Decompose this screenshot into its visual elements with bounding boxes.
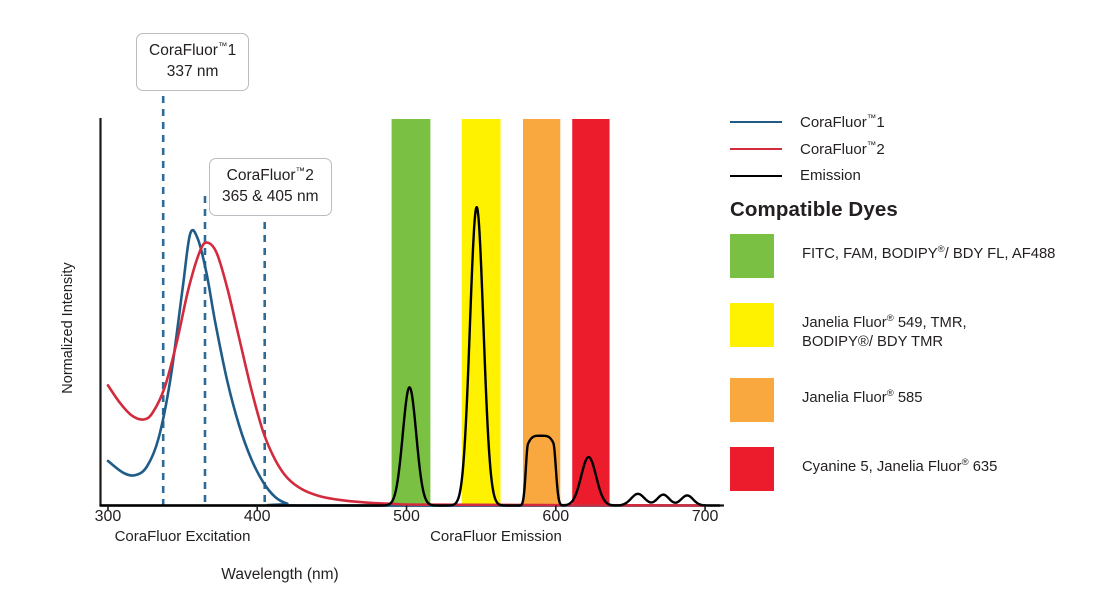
registered-icon: ®: [938, 244, 945, 255]
green-band: [392, 119, 431, 506]
dye-label-text: Janelia Fluor: [802, 390, 887, 406]
x-axis-label: Wavelength (nm): [0, 566, 560, 584]
dye-row: Janelia Fluor® 549, TMR,BODIPY®/ BDY TMR: [730, 303, 1100, 353]
x-tick-label-500: 500: [372, 508, 442, 526]
dye-row: Cyanine 5, Janelia Fluor® 635: [730, 447, 1100, 491]
trademark-icon: ™: [296, 166, 306, 177]
legend-item-corafluor2: CoraFluor™2: [730, 135, 1090, 162]
dye-label-text-cont: 635: [969, 459, 998, 475]
dye-label: FITC, FAM, BODIPY®/ BDY FL, AF488: [802, 234, 1055, 264]
dye-row: FITC, FAM, BODIPY®/ BDY FL, AF488: [730, 234, 1100, 278]
dye-row: Janelia Fluor® 585: [730, 378, 1100, 422]
red-band: [572, 119, 609, 506]
registered-icon: ®: [887, 388, 894, 399]
dye-label-line2: BODIPY®/ BDY TMR: [802, 333, 967, 353]
registered-icon: ®: [962, 457, 969, 468]
chart-canvas: CoraFluor™1 337 nm CoraFluor™2 365 & 405…: [0, 0, 1110, 612]
y-axis-label: Normalized Intensity: [60, 238, 76, 418]
legend-label: CoraFluor™1: [800, 113, 885, 131]
dye-color-swatch: [730, 378, 774, 422]
x-tick-label-400: 400: [222, 508, 292, 526]
dye-label-text: FITC, FAM, BODIPY: [802, 246, 938, 262]
axis-region-label-excitation: CoraFluor Excitation: [115, 528, 251, 545]
legend-item-corafluor1: CoraFluor™1: [730, 108, 1090, 135]
dye-label-text-cont: / BDY FL, AF488: [945, 246, 1056, 262]
registered-icon: ®: [887, 313, 894, 324]
dye-color-swatch: [730, 303, 774, 347]
dye-label: Janelia Fluor® 549, TMR,BODIPY®/ BDY TMR: [802, 303, 967, 353]
callout-corafluor1: CoraFluor™1 337 nm: [136, 33, 249, 91]
x-tick-label-600: 600: [521, 508, 591, 526]
legend-label: CoraFluor™2: [800, 140, 885, 158]
series-legend: CoraFluor™1 CoraFluor™2 Emission: [730, 108, 1090, 189]
legend-line-swatch: [730, 121, 782, 123]
dye-color-swatch: [730, 234, 774, 278]
callout-2-line2: 365 & 405 nm: [222, 187, 319, 208]
legend-item-emission: Emission: [730, 162, 1090, 189]
dye-label-text-cont: 585: [894, 390, 923, 406]
dye-label-text-cont: 549, TMR,: [894, 315, 967, 331]
callout-corafluor2: CoraFluor™2 365 & 405 nm: [209, 158, 332, 216]
dye-label: Janelia Fluor® 585: [802, 378, 923, 408]
compatible-dyes-title: Compatible Dyes: [730, 198, 898, 222]
legend-line-swatch: [730, 148, 782, 150]
dye-label-text: Cyanine 5, Janelia Fluor: [802, 459, 962, 475]
dye-label-text: Janelia Fluor: [802, 315, 887, 331]
compatible-dyes-list: FITC, FAM, BODIPY®/ BDY FL, AF488Janelia…: [730, 234, 1100, 516]
axis-region-label-emission: CoraFluor Emission: [430, 528, 562, 545]
trademark-icon: ™: [867, 140, 877, 151]
callout-1-line1: CoraFluor™1: [149, 41, 236, 62]
trademark-icon: ™: [218, 41, 228, 52]
yellow-band: [462, 119, 501, 506]
dye-color-swatch: [730, 447, 774, 491]
trademark-icon: ™: [867, 113, 877, 124]
dye-label: Cyanine 5, Janelia Fluor® 635: [802, 447, 997, 477]
x-tick-label-300: 300: [73, 508, 143, 526]
legend-label: Emission: [800, 167, 861, 184]
callout-1-line2: 337 nm: [149, 62, 236, 83]
callout-2-line1: CoraFluor™2: [222, 166, 319, 187]
legend-line-swatch: [730, 175, 782, 177]
